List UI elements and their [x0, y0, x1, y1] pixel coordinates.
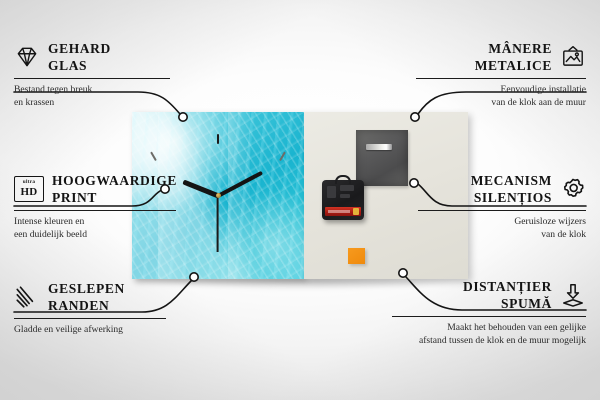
callout-rule	[14, 210, 176, 211]
minute-hand	[217, 170, 263, 197]
callout-rule	[418, 210, 586, 211]
ultra-hd-badge-icon: ultra HD	[14, 176, 44, 202]
badge-hd-text: HD	[20, 187, 37, 198]
battery-positive-terminal	[353, 208, 359, 215]
mechanism-hanging-loop	[335, 175, 351, 184]
callout-title: MÂNERE METALICE	[475, 40, 552, 74]
metal-hanger-plate	[356, 130, 408, 186]
battery	[325, 207, 361, 216]
callout-subtitle: Eenvoudige installatie van de klok aan d…	[416, 83, 586, 109]
callout-rule	[14, 78, 170, 79]
picture-frame-hanging-icon	[560, 44, 586, 70]
diamond-icon	[14, 44, 40, 70]
callout-subtitle: Bestand tegen breuk en krassen	[14, 83, 170, 109]
callout-mecanism-silentios: MECANISM SILENȚIOS Geruisloze wijzers va…	[418, 172, 586, 241]
callout-rule	[14, 318, 166, 319]
callout-rule	[416, 78, 586, 79]
clock-mechanism-box	[322, 180, 364, 220]
hanger-keyhole-slot	[366, 144, 392, 150]
callout-header: GESLEPEN RANDEN	[14, 280, 166, 314]
callout-manere-metalice: MÂNERE METALICE Eenvoudige installatie v…	[416, 40, 586, 109]
callout-distantier-spuma: DISTANȚIER SPUMĂ Maakt het behouden van …	[392, 278, 586, 347]
hour-tick	[217, 134, 219, 144]
hour-tick	[279, 151, 286, 161]
arrow-down-to-layer-icon	[560, 282, 586, 308]
foam-spacer	[348, 248, 365, 264]
battery-label	[328, 210, 350, 213]
mechanism-detail	[327, 186, 336, 198]
callout-header: ultra HD HOOGWAARDIGE PRINT	[14, 172, 176, 206]
infographic-canvas: GEHARD GLAS Bestand tegen breuk en krass…	[0, 0, 600, 400]
callout-hoogwaardige-print: ultra HD HOOGWAARDIGE PRINT Intense kleu…	[14, 172, 176, 241]
callout-subtitle: Geruisloze wijzers van de klok	[418, 215, 586, 241]
callout-header: DISTANȚIER SPUMĂ	[392, 278, 586, 312]
callout-gehard-glas: GEHARD GLAS Bestand tegen breuk en krass…	[14, 40, 170, 109]
mechanism-detail	[340, 185, 354, 191]
callout-geslepen-randen: GESLEPEN RANDEN Gladde en veilige afwerk…	[14, 280, 166, 336]
callout-title: DISTANȚIER SPUMĂ	[463, 278, 552, 312]
clock-center-cap	[216, 193, 221, 198]
callout-title: HOOGWAARDIGE PRINT	[52, 172, 177, 206]
callout-subtitle: Maakt het behouden van een gelijke afsta…	[392, 321, 586, 347]
callout-subtitle: Gladde en veilige afwerking	[14, 323, 166, 336]
callout-title: MECANISM SILENȚIOS	[471, 172, 552, 206]
second-hand	[217, 196, 219, 252]
gear-icon	[560, 176, 586, 202]
beveled-edges-icon	[14, 284, 40, 310]
hour-tick	[150, 151, 157, 161]
callout-header: MÂNERE METALICE	[416, 40, 586, 74]
callout-title: GEHARD GLAS	[48, 40, 111, 74]
callout-rule	[392, 316, 586, 317]
hour-hand	[182, 179, 219, 198]
callout-title: GESLEPEN RANDEN	[48, 280, 125, 314]
callout-header: MECANISM SILENȚIOS	[418, 172, 586, 206]
callout-header: GEHARD GLAS	[14, 40, 170, 74]
badge-ultra-text: ultra	[23, 180, 35, 185]
callout-subtitle: Intense kleuren en een duidelijk beeld	[14, 215, 176, 241]
mechanism-detail	[340, 194, 350, 198]
